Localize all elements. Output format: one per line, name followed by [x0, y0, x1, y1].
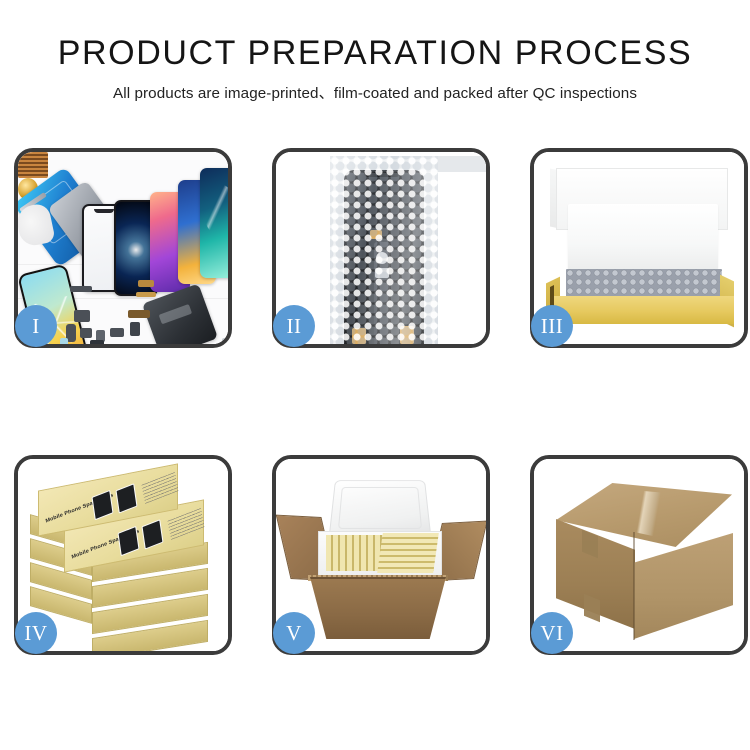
step-panel-6: VI [530, 455, 748, 655]
page-title: PRODUCT PREPARATION PROCESS [0, 34, 750, 72]
foam-sheet [568, 204, 718, 270]
step-panel-5: V [272, 455, 490, 655]
bubble-wrapped-contents [566, 269, 722, 299]
carton-vertical-edge [633, 532, 635, 640]
step-badge-4: IV [15, 612, 57, 654]
chip-grid-icon [18, 152, 48, 178]
tray-front-wall [552, 296, 734, 324]
step-badge-3: III [531, 305, 573, 347]
process-steps-grid: I [14, 148, 740, 673]
packed-boxes-right [377, 533, 439, 573]
plastic-sheen [330, 156, 438, 344]
step-panel-4: Mobile Phone Spare Parts Mobile Phone Sp… [14, 455, 232, 655]
header: PRODUCT PREPARATION PROCESS All products… [0, 34, 750, 103]
step-panel-1: I [14, 148, 232, 348]
carton-right-face [634, 533, 733, 639]
step-badge-1: I [15, 305, 57, 347]
product-preparation-infographic: PRODUCT PREPARATION PROCESS All products… [0, 0, 750, 750]
page-subtitle: All products are image-printed、film-coat… [0, 81, 750, 103]
step-panel-3: III [530, 148, 748, 348]
step-badge-5: V [273, 612, 315, 654]
bubble-bag [330, 156, 438, 344]
foam-lid [329, 480, 432, 537]
teal-gradient-phone-icon [200, 168, 228, 278]
step-badge-6: VI [531, 612, 573, 654]
step-panel-2: II [272, 148, 490, 348]
step-badge-2: II [273, 305, 315, 347]
carton-body [310, 577, 446, 639]
